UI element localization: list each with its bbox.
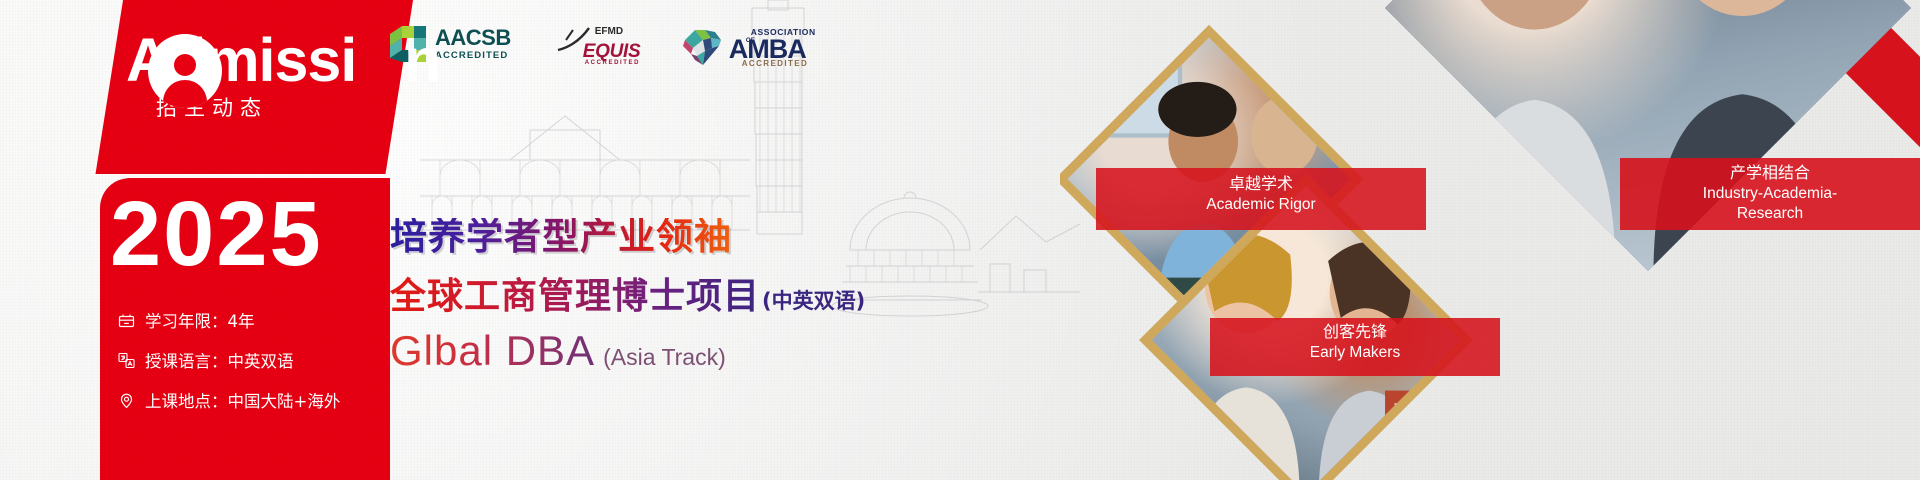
translate-icon xyxy=(118,352,135,369)
amba-of-label: OF xyxy=(746,37,755,44)
info-row-location: 上课地点：中国大陆+海外 xyxy=(118,388,340,412)
info-label: 上课地点：中国大陆+海外 xyxy=(145,388,340,412)
feature-collage: 产学相结合 Industry-Academia- Research xyxy=(1060,0,1920,480)
aacsb-subtitle: ACCREDITED xyxy=(435,51,511,61)
admission-banner: Admissi n 招生动态 2025 学习年限：4年 xyxy=(0,0,1920,480)
logo-amba: AMBA ASSOCIATION OF ACCREDITED xyxy=(681,24,837,68)
info-row-language: 授课语言：中英双语 xyxy=(118,348,340,372)
aacsb-title: AACSB xyxy=(435,27,511,49)
accreditation-logos: AACSB ACCREDITED EFMD EQUIS ACCREDITED xyxy=(388,24,837,68)
person-circle-icon xyxy=(148,34,222,108)
headline-block: 培养学者型产业领袖 全球工商管理博士项目 (中英双语) Glbal DBA (A… xyxy=(390,218,865,375)
logo-equis: EFMD EQUIS ACCREDITED xyxy=(555,24,637,68)
amba-diamond-icon xyxy=(681,24,725,68)
tagline-cn: 培养学者型产业领袖 xyxy=(390,218,865,257)
info-label: 学习年限：4年 xyxy=(145,308,255,332)
feature-diamond-industry[interactable] xyxy=(1385,0,1911,271)
program-title-en: Glbal DBA xyxy=(390,327,595,375)
program-info-list: 学习年限：4年 授课语言：中英双语 上课地点：中国大陆+海外 xyxy=(118,308,340,412)
calendar-icon xyxy=(118,312,135,329)
academic-label: 卓越学术 Academic Rigor xyxy=(1096,174,1426,215)
program-title-en-row: Glbal DBA (Asia Track) xyxy=(390,327,865,375)
makers-label: 创客先锋 Early Makers xyxy=(1210,322,1500,363)
men-discussion-photo xyxy=(1385,0,1911,271)
program-title-cn-row: 全球工商管理博士项目 (中英双语) xyxy=(390,267,865,319)
industry-label: 产学相结合 Industry-Academia- Research xyxy=(1620,163,1920,224)
program-title-cn: 全球工商管理博士项目 xyxy=(390,267,760,319)
info-label: 授课语言：中英双语 xyxy=(145,348,294,372)
efmd-label: EFMD xyxy=(595,26,623,37)
year-label: 2025 xyxy=(110,188,323,280)
amba-association-label: ASSOCIATION xyxy=(751,27,816,37)
amba-text: AMBA ASSOCIATION OF ACCREDITED xyxy=(729,24,837,68)
equis-subtitle: ACCREDITED xyxy=(585,60,640,66)
person-head-shape xyxy=(174,54,196,76)
person-body-shape xyxy=(163,80,207,108)
program-title-cn-note: (中英双语) xyxy=(762,285,865,315)
location-pin-icon xyxy=(118,392,135,409)
info-row-duration: 学习年限：4年 xyxy=(118,308,340,332)
aacsb-text: AACSB ACCREDITED xyxy=(435,27,511,61)
program-title-en-note: (Asia Track) xyxy=(603,344,726,371)
amba-subtitle: ACCREDITED xyxy=(742,59,808,68)
